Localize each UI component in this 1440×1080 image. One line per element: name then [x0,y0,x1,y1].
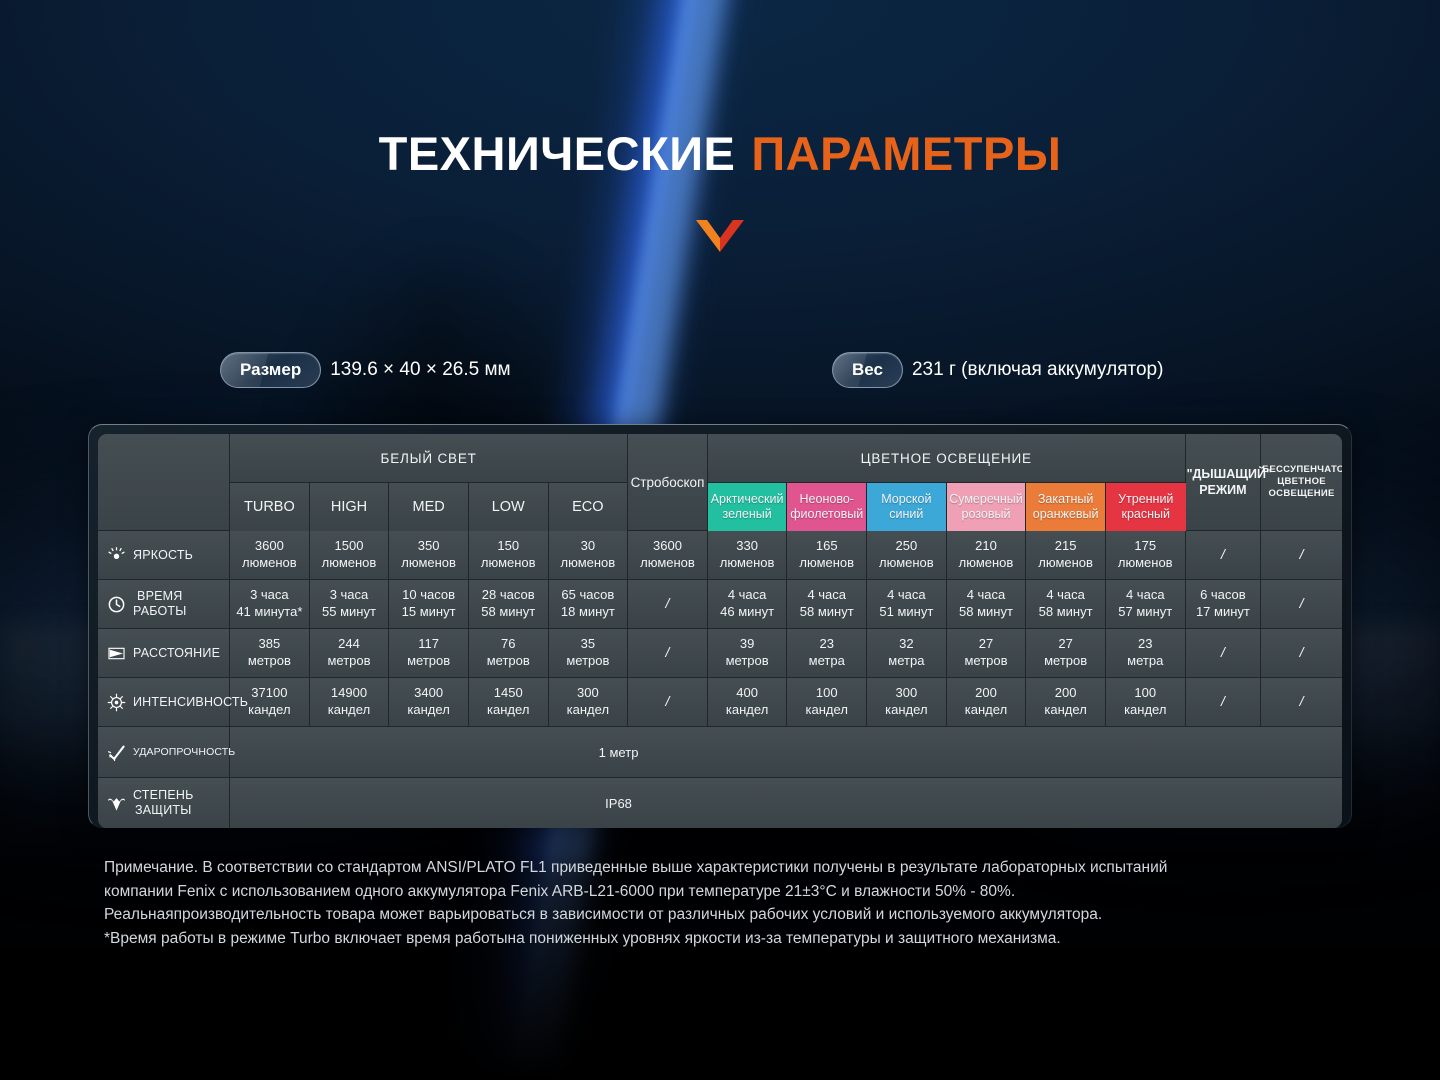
cell-white-high: 3 часа55 минут [310,580,390,629]
cell-stepless: / [1261,678,1342,727]
cell-ingress-value: IP68 [230,778,1342,828]
footnote-line-2: компании Fenix с использованием одного а… [104,880,1354,904]
column-header-stepless-color: БЕССУПЕНЧАТОЕ ЦВЕТНОЕ ОСВЕЩЕНИЕ [1261,434,1342,531]
cell-white-turbo: 3600люменов [230,531,310,580]
table-row-ingress-row: СТЕПЕНЬ ЗАЩИТЫIP68 [98,778,1342,828]
cell-color-5: 4 часа57 минут [1106,580,1186,629]
page-title-wrap: ТЕХНИЧЕСКИЕПАРАМЕТРЫ [0,130,1440,177]
cell-color-3: 210люменов [947,531,1027,580]
cell-stepless: / [1261,629,1342,678]
cell-white-med: 350люменов [389,531,469,580]
footnote-line-3: Реальнаяпроизводительность товара может … [104,903,1354,927]
row-header-beam-distance: РАССТОЯНИЕ [98,629,230,678]
cell-breathing: / [1186,629,1262,678]
cell-color-3: 4 часа58 минут [947,580,1027,629]
cell-white-high: 1500люменов [310,531,390,580]
column-header-dusk-pink: Сумеречный розовый [947,483,1027,531]
cell-white-eco: 30люменов [549,531,629,580]
row-header-clock: ВРЕМЯ РАБОТЫ [98,580,230,629]
group-header-white-light: БЕЛЫЙ СВЕТ [230,434,628,483]
column-header-morning-red: Утренний красный [1106,483,1186,531]
spec-size: Размер 139.6 × 40 × 26.5 мм [220,352,511,388]
cell-white-med: 10 часов15 минут [389,580,469,629]
table-row: ВРЕМЯ РАБОТЫ3 часа41 минута*3 часа55 мин… [98,580,1342,629]
cell-white-eco: 65 часов18 минут [549,580,629,629]
cell-color-2: 300кандел [867,678,947,727]
cell-color-4: 27метров [1026,629,1106,678]
cell-color-5: 100кандел [1106,678,1186,727]
page-title-white: ТЕХНИЧЕСКИЕ [379,127,736,180]
cell-breathing: / [1186,678,1262,727]
cell-color-4: 200кандел [1026,678,1106,727]
spec-weight: Вес 231 г (включая аккумулятор) [832,352,1163,388]
size-value: 139.6 × 40 × 26.5 мм [330,359,510,381]
cell-stepless: / [1261,531,1342,580]
cell-white-med: 3400кандел [389,678,469,727]
spec-table-panel: БЕЛЫЙ СВЕТ Стробоскоп ЦВЕТНОЕ ОСВЕЩЕНИЕ … [88,424,1352,828]
cell-color-1: 100кандел [787,678,867,727]
cell-color-0: 400кандел [708,678,788,727]
footnote-line-1: Примечание. В соответствии со стандартом… [104,856,1354,880]
column-header-turbo: TURBO [230,483,310,531]
row-header-brightness: ЯРКОСТЬ [98,531,230,580]
weight-value: 231 г (включая аккумулятор) [912,359,1163,381]
cell-strobe: / [628,580,708,629]
cell-white-low: 28 часов58 минут [469,580,549,629]
column-header-sea-blue: Морской синий [867,483,947,531]
column-header-med: MED [389,483,469,531]
cell-strobe: / [628,629,708,678]
cell-color-1: 23метра [787,629,867,678]
cell-stepless: / [1261,580,1342,629]
cell-strobe: / [628,678,708,727]
cell-color-4: 4 часа58 минут [1026,580,1106,629]
column-header-low: LOW [469,483,549,531]
spec-badges: Размер 139.6 × 40 × 26.5 мм Вес 231 г (в… [0,352,1440,392]
table-group-header-row: БЕЛЫЙ СВЕТ Стробоскоп ЦВЕТНОЕ ОСВЕЩЕНИЕ … [98,434,1342,483]
cell-color-2: 4 часа51 минут [867,580,947,629]
intensity-icon [107,693,126,712]
cell-color-5: 175люменов [1106,531,1186,580]
row-label: ЯРКОСТЬ [133,548,193,563]
spec-table: БЕЛЫЙ СВЕТ Стробоскоп ЦВЕТНОЕ ОСВЕЩЕНИЕ … [98,434,1342,828]
row-header-ingress: СТЕПЕНЬ ЗАЩИТЫ [98,778,230,828]
cell-white-eco: 35метров [549,629,629,678]
water-drop-icon [107,794,126,813]
column-header-strobe: Стробоскоп [628,434,708,531]
cell-white-low: 1450кандел [469,678,549,727]
impact-resistance-icon [107,743,126,762]
cell-strobe: 3600люменов [628,531,708,580]
cell-white-low: 76метров [469,629,549,678]
group-header-color-light: ЦВЕТНОЕ ОСВЕЩЕНИЕ [708,434,1186,483]
cell-color-0: 39метров [708,629,788,678]
chevron-down-icon [694,218,746,254]
table-row: РАССТОЯНИЕ385метров244метров117метров76м… [98,629,1342,678]
cell-color-0: 4 часа46 минут [708,580,788,629]
row-header-intensity: ИНТЕНСИВНОСТЬ [98,678,230,727]
cell-color-2: 32метра [867,629,947,678]
cell-color-2: 250люменов [867,531,947,580]
cell-color-4: 215люменов [1026,531,1106,580]
column-header-eco: ECO [549,483,629,531]
column-header-sunset-orange: Закатный оранжевый [1026,483,1106,531]
table-row-impact-row: УДАРОПРОЧНОСТЬ1 метр [98,727,1342,778]
cell-color-3: 200кандел [947,678,1027,727]
cell-color-0: 330люменов [708,531,788,580]
cell-color-5: 23метра [1106,629,1186,678]
table-corner-cell [98,434,230,531]
row-label: УДАРОПРОЧНОСТЬ [133,746,235,759]
page-title-orange: ПАРАМЕТРЫ [751,127,1061,180]
column-header-breathing-mode: "ДЫШАЩИЙ" РЕЖИМ [1186,434,1262,531]
beam-distance-icon [107,644,126,663]
row-label: ИНТЕНСИВНОСТЬ [133,695,248,710]
cell-color-1: 165люменов [787,531,867,580]
cell-breathing: 6 часов17 минут [1186,580,1262,629]
cell-white-high: 14900кандел [310,678,390,727]
cell-white-med: 117метров [389,629,469,678]
row-header-impact: УДАРОПРОЧНОСТЬ [98,727,230,778]
cell-white-high: 244метров [310,629,390,678]
row-label: РАССТОЯНИЕ [133,646,220,661]
cell-white-eco: 300кандел [549,678,629,727]
brightness-icon [107,546,126,565]
row-label: ВРЕМЯ РАБОТЫ [133,589,187,619]
cell-color-1: 4 часа58 минут [787,580,867,629]
column-header-arctic-green: Арктический зеленый [708,483,788,531]
cell-impact-value: 1 метр [230,727,1342,778]
size-badge-label: Размер [220,352,321,388]
footnote: Примечание. В соответствии со стандартом… [104,856,1354,951]
table-row: ИНТЕНСИВНОСТЬ37100кандел14900кандел3400к… [98,678,1342,727]
cell-breathing: / [1186,531,1262,580]
footnote-line-4: *Время работы в режиме Turbo включает вр… [104,927,1354,951]
page-title: ТЕХНИЧЕСКИЕПАРАМЕТРЫ [379,130,1062,177]
cell-white-turbo: 385метров [230,629,310,678]
cell-color-3: 27метров [947,629,1027,678]
column-header-neon-purple: Неоново- фиолетовый [787,483,867,531]
cell-white-low: 150люменов [469,531,549,580]
weight-badge-label: Вес [832,352,903,388]
column-header-high: HIGH [310,483,390,531]
table-body: ЯРКОСТЬ3600люменов1500люменов350люменов1… [98,531,1342,828]
table-row: ЯРКОСТЬ3600люменов1500люменов350люменов1… [98,531,1342,580]
row-label: СТЕПЕНЬ ЗАЩИТЫ [133,788,194,818]
clock-icon [107,595,126,614]
cell-white-turbo: 3 часа41 минута* [230,580,310,629]
table-sub-header-row: TURBO HIGH MED LOW ECO Арктический зелен… [98,483,1342,531]
